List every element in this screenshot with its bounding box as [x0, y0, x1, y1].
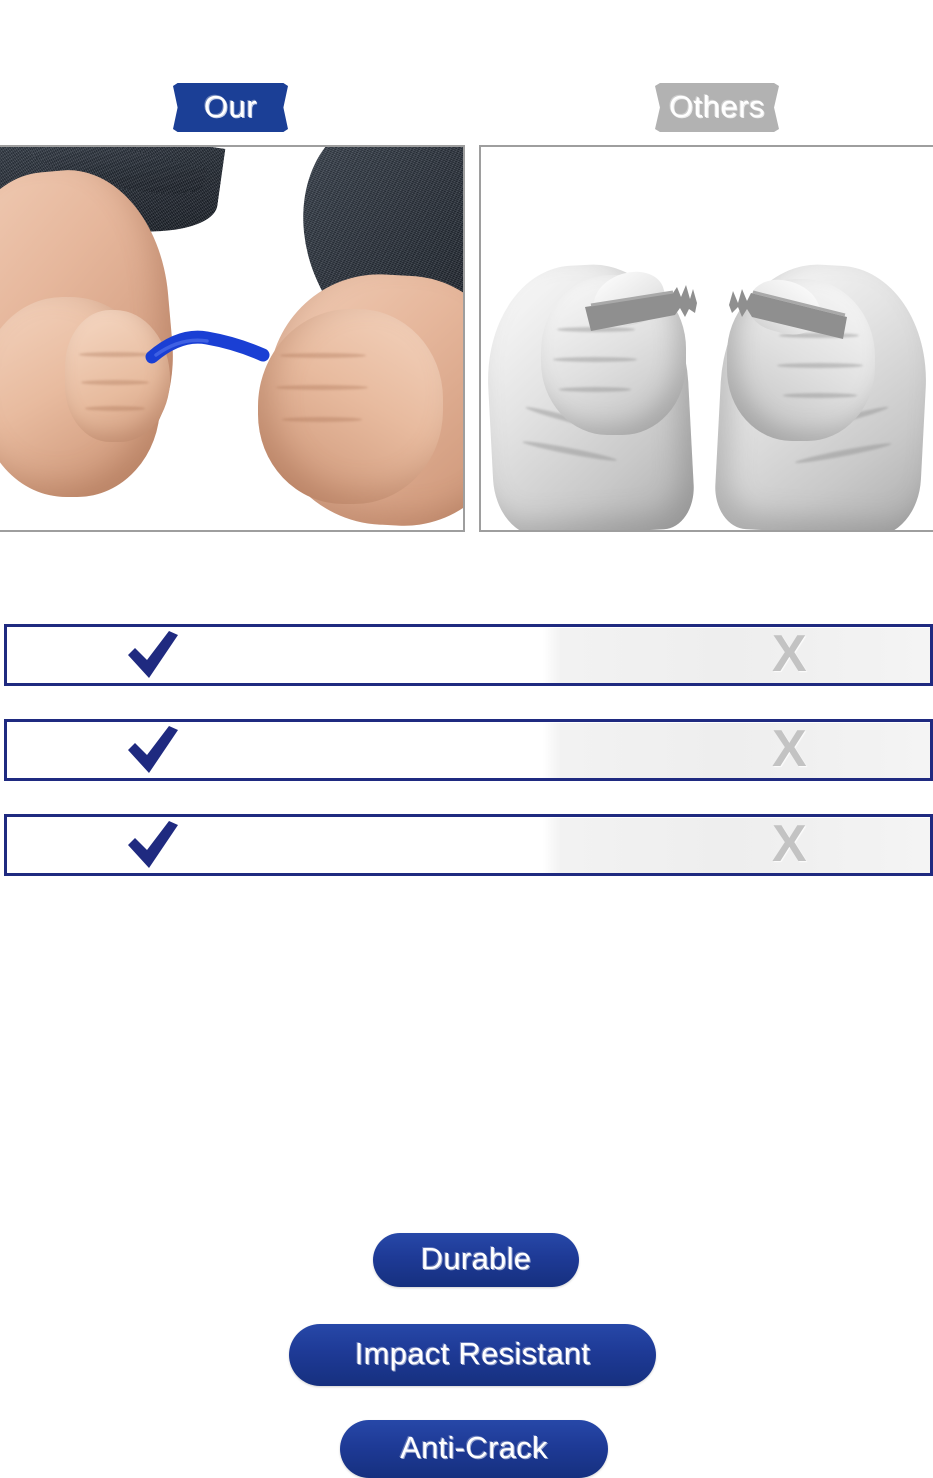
feature-label: Impact Resistant	[355, 1338, 591, 1372]
x-icon: X	[772, 628, 807, 680]
finger-crease	[783, 393, 857, 398]
check-icon	[125, 629, 181, 681]
hand-crease	[522, 439, 617, 463]
right-fist-icon	[258, 309, 443, 504]
our-product-photo	[0, 147, 463, 530]
x-icon: X	[772, 723, 807, 775]
x-icon: X	[772, 818, 807, 870]
feature-comparison-list: X Durable X Impact Resistant X Anti-Crac…	[0, 612, 933, 912]
others-product-photo-panel	[479, 145, 933, 532]
left-knuckles-icon	[65, 310, 170, 442]
feature-row: X	[4, 624, 933, 686]
finger-crease	[79, 352, 151, 357]
feature-pill-anti-crack: Anti-Crack	[340, 1420, 608, 1478]
feature-pill-impact-resistant: Impact Resistant	[289, 1324, 656, 1386]
finger-crease	[559, 387, 631, 392]
blue-flexible-tool-icon	[150, 335, 265, 365]
check-icon	[125, 724, 181, 776]
photo-panels	[0, 0, 933, 600]
feature-label: Durable	[421, 1243, 532, 1277]
feature-pill-durable: Durable	[373, 1233, 579, 1287]
our-product-photo-panel	[0, 145, 465, 532]
check-icon	[125, 819, 181, 871]
broken-gray-strip-icon	[581, 265, 851, 375]
our-badge-label: Our	[204, 91, 257, 124]
finger-crease	[280, 353, 366, 358]
finger-crease	[282, 417, 362, 422]
feature-label: Anti-Crack	[400, 1432, 548, 1466]
others-badge-label: Others	[669, 91, 765, 124]
finger-crease	[81, 380, 149, 385]
finger-crease	[85, 406, 145, 411]
feature-row: X	[4, 814, 933, 876]
others-product-photo	[481, 147, 933, 530]
hand-crease	[795, 441, 892, 466]
finger-crease	[276, 385, 368, 390]
feature-row: X	[4, 719, 933, 781]
